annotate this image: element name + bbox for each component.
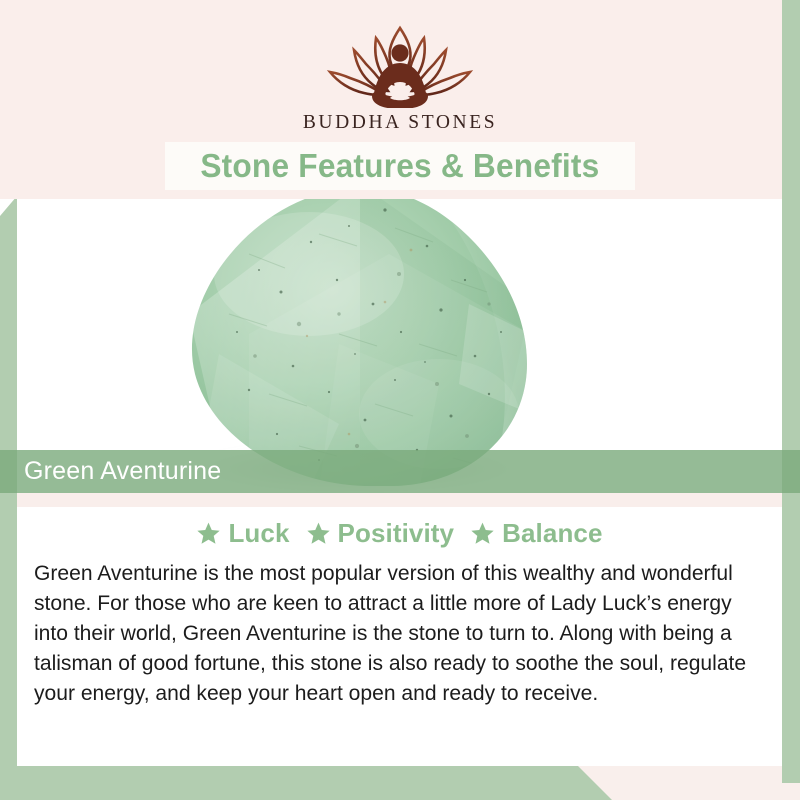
benefit-item: Positivity <box>306 518 455 549</box>
star-icon <box>196 521 221 546</box>
benefit-label: Positivity <box>338 518 455 549</box>
benefit-item: Luck <box>196 518 289 549</box>
benefit-label: Balance <box>502 518 602 549</box>
frame-bottom-green <box>0 766 612 800</box>
lotus-meditation-figure-icon <box>312 22 488 108</box>
stone-description: Green Aventurine is the most popular ver… <box>34 558 765 708</box>
brand-name: BUDDHA STONES <box>303 112 497 134</box>
name-band-underline <box>17 493 782 507</box>
green-aventurine-stone-image <box>189 196 531 490</box>
stone-info-poster: BUDDHA STONES Stone Features & Benefits … <box>0 0 800 800</box>
stone-name-label: Green Aventurine <box>24 457 221 486</box>
benefit-label: Luck <box>228 518 289 549</box>
benefits-row: Luck Positivity Balance <box>17 518 782 549</box>
benefit-item: Balance <box>470 518 602 549</box>
page-title: Stone Features & Benefits <box>200 147 599 185</box>
title-banner: Stone Features & Benefits <box>165 142 635 190</box>
star-icon <box>470 521 495 546</box>
brand-logo: BUDDHA STONES <box>0 22 800 134</box>
star-icon <box>306 521 331 546</box>
stone-name-band: Green Aventurine <box>0 450 800 493</box>
